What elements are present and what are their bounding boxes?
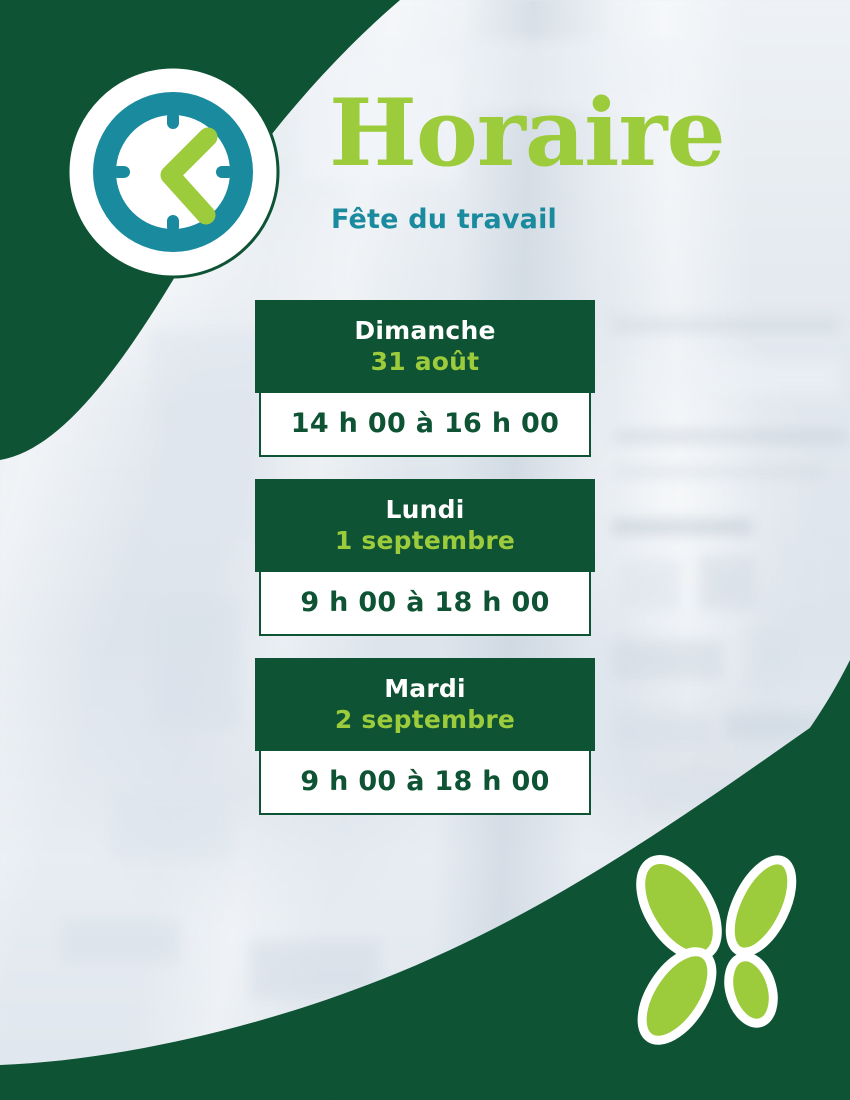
schedule-day-label: Dimanche	[265, 316, 585, 347]
schedule-date-label: 2 septembre	[265, 705, 585, 736]
schedule-card: Dimanche 31 août 14 h 00 à 16 h 00	[255, 300, 595, 457]
schedule-date-label: 31 août	[265, 347, 585, 378]
schedule-card-body: 14 h 00 à 16 h 00	[259, 393, 591, 457]
schedule-list: Dimanche 31 août 14 h 00 à 16 h 00 Lundi…	[255, 300, 595, 837]
schedule-card-header: Dimanche 31 août	[255, 300, 595, 393]
butterfly-petals-icon	[612, 848, 827, 1063]
schedule-card-body: 9 h 00 à 18 h 00	[259, 751, 591, 815]
schedule-hours-label: 14 h 00 à 16 h 00	[267, 410, 583, 437]
schedule-hours-label: 9 h 00 à 18 h 00	[267, 589, 583, 616]
clock-icon	[66, 65, 280, 279]
schedule-day-label: Lundi	[265, 495, 585, 526]
schedule-hours-label: 9 h 00 à 18 h 00	[267, 768, 583, 795]
schedule-date-label: 1 septembre	[265, 526, 585, 557]
schedule-card-body: 9 h 00 à 18 h 00	[259, 572, 591, 636]
schedule-card-header: Mardi 2 septembre	[255, 658, 595, 751]
schedule-card: Mardi 2 septembre 9 h 00 à 18 h 00	[255, 658, 595, 815]
page-subtitle: Fête du travail	[331, 206, 557, 233]
schedule-poster: Horaire Fête du travail Dimanche 31 août…	[0, 0, 850, 1100]
schedule-card-header: Lundi 1 septembre	[255, 479, 595, 572]
schedule-day-label: Mardi	[265, 674, 585, 705]
page-title: Horaire	[329, 86, 725, 179]
schedule-card: Lundi 1 septembre 9 h 00 à 18 h 00	[255, 479, 595, 636]
